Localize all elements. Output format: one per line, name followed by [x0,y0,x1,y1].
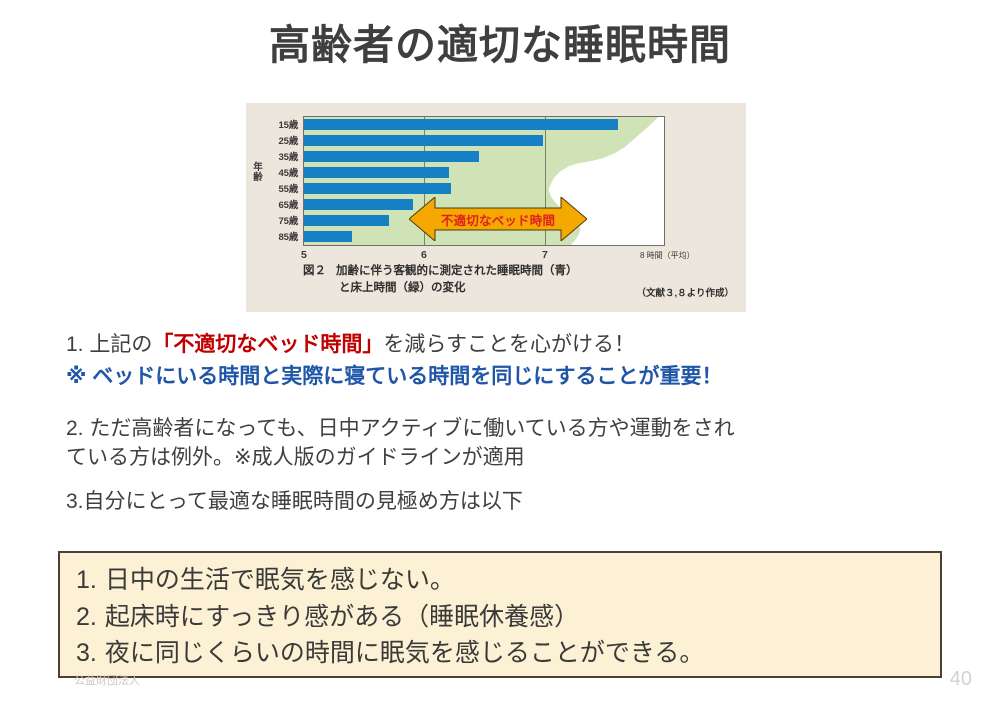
checklist-item: 2.起床時にすっきり感がある（睡眠休養感） [76,599,924,636]
figure-source: （文献３,８より作成） [637,285,734,299]
figure-number: 図２ [303,265,326,277]
sleep-bar-75 [304,215,389,226]
ytick-label: 75歳 [279,213,298,227]
body-item-note: ※ ベッドにいる時間と実際に寝ている時間を同じにすることが重要！ [66,362,946,392]
sleep-bar-15 [304,119,618,130]
checklist-item-text: 夜に同じくらいの時間に眠気を感じることができる。 [105,639,705,667]
figure-caption-line1: 加齢に伴う客観的に測定された睡眠時間（青） [336,265,578,277]
body-item-1: 1. 上記の「不適切なベッド時間」を減らすことを心がける！ [66,330,946,360]
xaxis-unit-label: 8 時間（平均） [640,250,695,261]
ytick-label: 35歳 [279,149,298,163]
body-item-1-highlight: 「不適切なベッド時間」 [152,333,383,356]
annotation-label: 不適切なベッド時間 [409,197,587,241]
sleep-bar-35 [304,151,479,162]
ytick-label: 55歳 [279,181,298,195]
xtick-label-6: 6 [421,249,427,261]
xtick-label-7: 7 [542,249,548,261]
body-item-2-line2: ている方は例外。※成人版のガイドラインが適用 [66,446,525,469]
checklist-item-number: 2. [76,603,97,631]
page-title: 高齢者の適切な睡眠時間 [0,22,1000,69]
xtick-label-5: 5 [301,249,307,261]
footer-note: 公益財団法人 [74,672,140,688]
chart-plot-area: 不適切なベッド時間 [303,116,665,246]
chart-yaxis-labels: 15歳 25歳 35歳 45歳 55歳 65歳 75歳 85歳 [246,116,301,246]
checklist-item-number: 3. [76,639,97,667]
body-item-3: 3.自分にとって最適な睡眠時間の見極め方は以下 [66,487,946,517]
ytick-label: 25歳 [279,133,298,147]
ytick-label: 45歳 [279,165,298,179]
ytick-label: 65歳 [279,197,298,211]
sleep-bar-85 [304,231,352,242]
body-item-1-suffix: を減らすことを心がける！ [383,333,635,356]
figure-panel: 年齢 15歳 25歳 35歳 45歳 55歳 65歳 75歳 85歳 [246,103,746,312]
sleep-bar-25 [304,135,543,146]
checklist-box: 1.日中の生活で眠気を感じない。 2.起床時にすっきり感がある（睡眠休養感） 3… [58,551,942,678]
page-number: 40 [950,668,972,691]
ytick-label: 85歳 [279,229,298,243]
sleep-bar-65 [304,199,413,210]
checklist-item-number: 1. [76,566,97,594]
ytick-label: 15歳 [279,117,298,131]
sleep-bar-55 [304,183,451,194]
checklist-item: 1.日中の生活で眠気を感じない。 [76,562,924,599]
checklist-item-text: 日中の生活で眠気を感じない。 [105,566,455,594]
checklist-item-text: 起床時にすっきり感がある（睡眠休養感） [105,603,579,631]
sleep-bar-45 [304,167,449,178]
body-item-2: 2. ただ高齢者になっても、日中アクティブに働いている方や運動をされ ている方は… [66,414,946,474]
body-text: 1. 上記の「不適切なベッド時間」を減らすことを心がける！ ※ ベッドにいる時間… [66,330,946,531]
checklist-item: 3.夜に同じくらいの時間に眠気を感じることができる。 [76,635,924,672]
body-item-1-prefix: 1. 上記の [66,333,152,356]
body-item-2-line1: 2. ただ高齢者になっても、日中アクティブに働いている方や運動をされ [66,417,735,440]
inappropriate-bed-time-annotation: 不適切なベッド時間 [409,197,587,241]
